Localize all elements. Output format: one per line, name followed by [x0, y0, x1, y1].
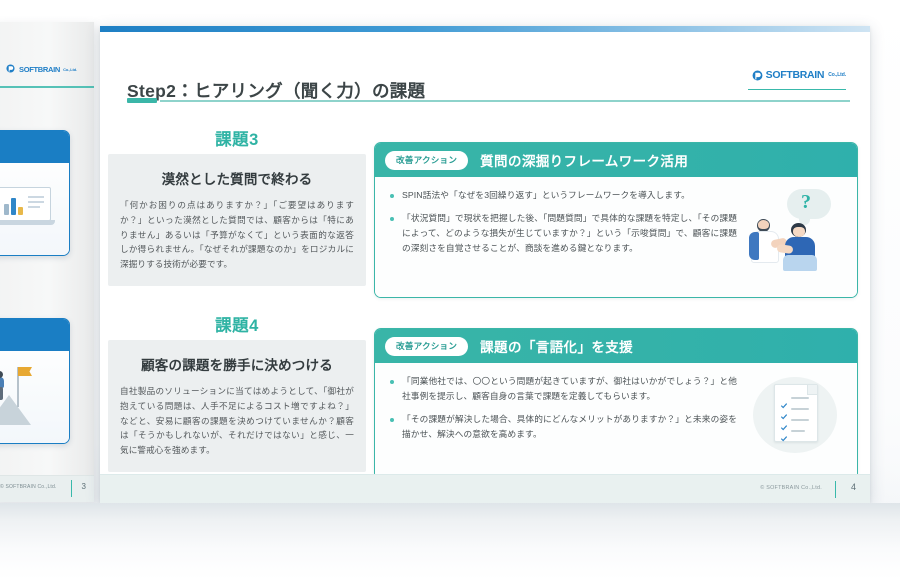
action-card-title: 質問の深掘りフレームワーク活用	[480, 150, 688, 170]
action-card-title: 課題の「言語化」を支援	[480, 336, 633, 356]
lead-column: 課題4 顧客の課題を勝手に決めつける 自社製品のソリューションに当てはめようとし…	[108, 312, 366, 472]
document-checklist-icon	[774, 384, 818, 442]
kadai-label: 課題3	[108, 126, 366, 150]
lead-body: 自社製品のソリューションに当てはめようとして、「御社が抱えている問題は、人手不足…	[120, 384, 354, 458]
action-pill: 改善アクション	[385, 337, 468, 356]
right-page-number-divider	[835, 481, 836, 498]
left-page-rule	[0, 86, 94, 88]
people-figures-icon	[747, 211, 843, 271]
left-page-number: 3	[82, 482, 86, 491]
action-point: SPIN話法や「なぜを3回繰り返す」というフレームワークを導入します。	[389, 188, 737, 203]
left-logo-suffix: Co.,Ltd.	[63, 67, 77, 72]
left-page: SOFTBRAIN Co.,Ltd.	[0, 22, 94, 502]
left-footer-copyright: © SOFTBRAIN Co.,Ltd.	[0, 484, 57, 490]
page-title: Step2：ヒアリング（聞く力）の課題	[127, 78, 425, 103]
action-card: 改善アクション 質問の深掘りフレームワーク活用 SPIN話法や「なぜを3回繰り返…	[374, 142, 858, 298]
kadai-label: 課題4	[108, 312, 366, 336]
action-card-body: SPIN話法や「なぜを3回繰り返す」というフレームワークを導入します。 「状況質…	[375, 177, 857, 297]
logo-wordmark: SOFTBRAIN	[766, 69, 825, 81]
action-point: 「同業他社では、〇〇という問題が起きていますが、御社はいかがでしょう？」と他社事…	[389, 374, 737, 404]
two-people-question-illustration: ?	[747, 187, 843, 271]
softbrain-logo: SOFTBRAIN Co.,Ltd.	[752, 69, 846, 81]
lead-panel: 漠然とした質問で終わる 「何かお困りの点はありますか？」「ご要望はありますか？」…	[108, 154, 366, 286]
check-icon	[781, 396, 787, 402]
lead-column: 課題3 漠然とした質問で終わる 「何かお困りの点はありますか？」「ご要望はありま…	[108, 126, 366, 286]
left-page-logo: SOFTBRAIN Co.,Ltd.	[6, 62, 80, 76]
action-card: 改善アクション 課題の「言語化」を支援 「同業他社では、〇〇という問題が起きてい…	[374, 328, 858, 480]
lead-title: 顧客の課題を勝手に決めつける	[120, 354, 354, 374]
action-card-header: 改善アクション 質問の深掘りフレームワーク活用	[375, 143, 857, 177]
action-points-list: SPIN話法や「なぜを3回繰り返す」というフレームワークを導入します。 「状況質…	[389, 188, 737, 257]
desk-surface	[0, 503, 900, 580]
right-page: Step2：ヒアリング（聞く力）の課題 SOFTBRAIN Co.,Ltd. 課…	[100, 26, 870, 503]
action-point: 「その課題が解決した場合、具体的にどんなメリットがありますか？」と未来の姿を描か…	[389, 412, 737, 442]
right-page-footer: © SOFTBRAIN Co.,Ltd. 4	[100, 474, 870, 503]
page-top-accent-bar	[100, 26, 870, 32]
lead-body: 「何かお困りの点はありますか？」「ご要望はありますか？」といった漠然とした質問で…	[120, 198, 354, 272]
left-card-body	[0, 163, 69, 255]
lead-title: 漠然とした質問で終わる	[120, 168, 354, 188]
softbrain-logo-icon	[6, 64, 17, 75]
logo-suffix: Co.,Ltd.	[828, 72, 846, 78]
right-page-number: 4	[851, 482, 856, 492]
left-page-number-divider	[71, 480, 72, 497]
title-accent-block	[127, 98, 157, 103]
softbrain-logo-icon	[752, 70, 763, 81]
left-page-footer: © SOFTBRAIN Co.,Ltd. 3	[0, 475, 94, 502]
left-card-laptop	[0, 130, 70, 256]
check-icon	[781, 418, 787, 424]
action-points-list: 「同業他社では、〇〇という問題が起きていますが、御社はいかがでしょう？」と他社事…	[389, 374, 737, 443]
left-card-header	[0, 131, 69, 163]
logo-underline-rule	[748, 89, 846, 90]
action-card-body: 「同業他社では、〇〇という問題が起きていますが、御社はいかがでしょう？」と他社事…	[375, 363, 857, 479]
check-icon	[781, 407, 787, 413]
left-logo-wordmark: SOFTBRAIN	[19, 65, 60, 74]
laptop-chart-icon	[0, 187, 53, 231]
checklist-document-illustration	[747, 373, 843, 457]
action-point: 「状況質問」で現状を把握した後、「問題質問」で具体的な課題を特定し、「その課題に…	[389, 211, 737, 256]
action-card-header: 改善アクション 課題の「言語化」を支援	[375, 329, 857, 363]
title-underline-rule	[160, 100, 850, 102]
right-footer-copyright: © SOFTBRAIN Co.,Ltd.	[760, 485, 822, 491]
check-icon	[781, 429, 787, 435]
document-spread: SOFTBRAIN Co.,Ltd.	[0, 0, 900, 580]
action-pill: 改善アクション	[385, 151, 468, 170]
climber-flag-icon	[0, 351, 69, 443]
left-card-flag	[0, 318, 70, 444]
left-card-header	[0, 319, 69, 351]
left-card-body	[0, 351, 69, 443]
lead-panel: 顧客の課題を勝手に決めつける 自社製品のソリューションに当てはめようとして、「御…	[108, 340, 366, 472]
